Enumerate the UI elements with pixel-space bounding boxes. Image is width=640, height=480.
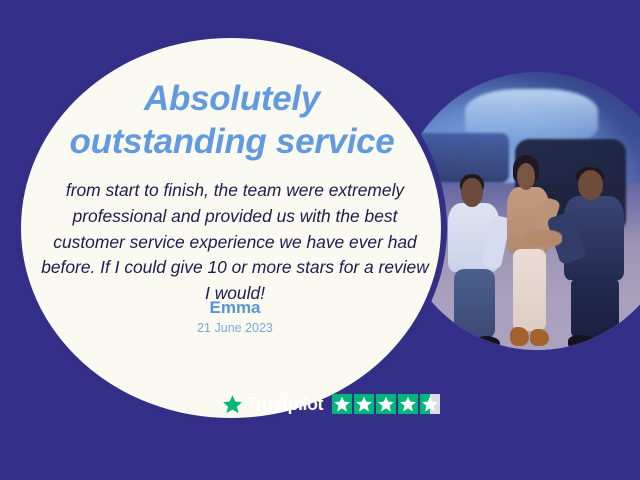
testimonial-quote: from start to finish, the team were extr… [40,178,430,307]
headline-line-1: Absolutely [144,79,320,118]
star-icon [399,395,417,413]
testimonial-card: Absolutely outstanding service from star… [0,0,640,480]
trustpilot-logo[interactable]: Trustpilot [222,394,323,415]
star-half-icon [421,395,439,413]
rating-star[interactable] [376,394,396,414]
rating-star-half[interactable] [420,394,440,414]
headline-line-2: outstanding service [46,121,418,164]
star-rating-group[interactable] [332,394,440,414]
star-icon [333,395,351,413]
author-name: Emma [40,298,430,318]
trustpilot-rating[interactable]: Trustpilot [222,392,440,416]
trustpilot-wordmark: Trustpilot [246,394,323,415]
rating-star[interactable] [332,394,352,414]
star-icon [377,395,395,413]
page-title: Absolutely outstanding service [46,78,418,163]
review-date: 21 June 2023 [40,321,430,335]
trustpilot-star-icon [222,394,243,415]
rating-star[interactable] [354,394,374,414]
rating-star[interactable] [398,394,418,414]
star-icon [355,395,373,413]
